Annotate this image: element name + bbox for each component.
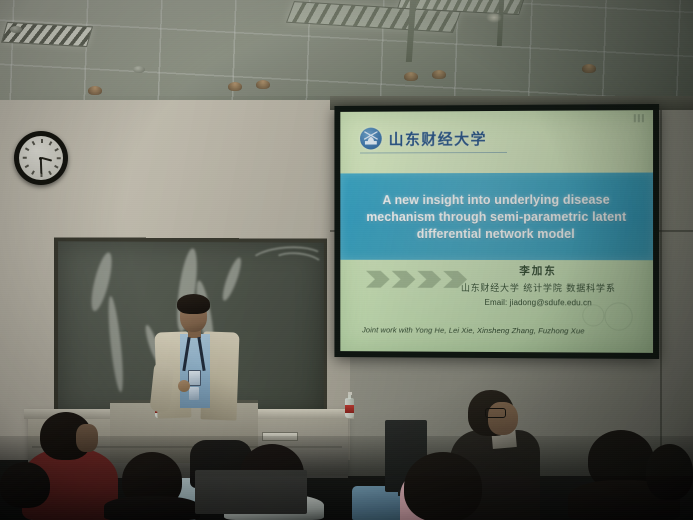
laptop [195,470,307,514]
attendee-body [104,496,200,520]
ambient-shadow [0,96,693,476]
lecture-hall-photo: 山东财经大学 A new insight into underlying dis… [0,0,693,520]
